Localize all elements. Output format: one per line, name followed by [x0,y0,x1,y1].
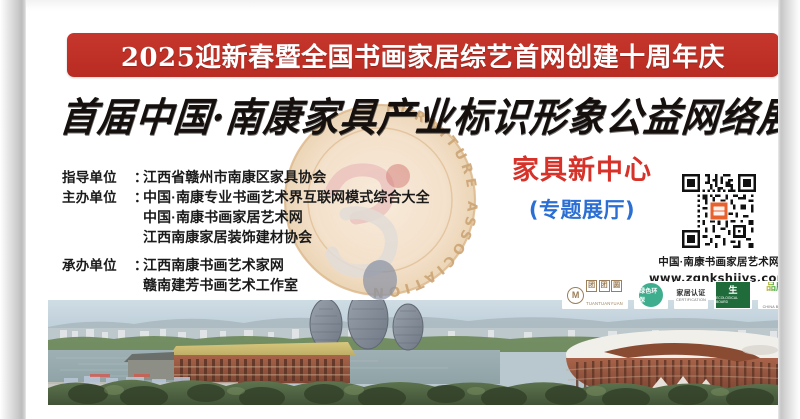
credit-colon: ： [134,256,143,275]
credit-value: 中国·南康书画家居艺术网 [143,208,303,227]
green-board-mark-icon: 生 ECOLOGICAL BOARD [716,282,750,308]
exhibition-poster: FURNITURE ASSOCIATION 2025迎新春暨全国书画家居综艺首网… [0,0,800,419]
credit-row: 赣南建芳书画艺术工作室 [62,276,482,295]
credit-label: 承办单位 [62,256,134,275]
eco-badge-icon: 绿色环保 [639,283,663,307]
sponsor-tagline: ECOLOGICAL BOARD [716,296,750,304]
poster-frame-right [778,0,800,419]
sponsor-logo-text: 家居认证 [676,288,706,298]
credit-row: 指导单位 ： 江西省赣州市南康区家具协会 [62,168,482,187]
city-skyline-photo [48,300,778,411]
sponsor-logo[interactable]: 品牌 CHINA BRAND [758,281,778,309]
sponsor-glyph: 圆 [611,280,622,292]
qr-site-name: 中国·南康书画家居艺术网 [644,254,778,269]
credit-colon: ： [134,168,143,187]
sponsor-logo-text: 品牌 [766,282,778,293]
banner-headline: 2025迎新春暨全国书画家居综艺首网创建十周年庆 [67,33,778,77]
banner-title-text: 2025迎新春暨全国书画家居综艺首网创建十周年庆 [121,37,725,74]
credit-value: 中国·南康专业书画艺术界互联网模式综合大全 [143,188,430,207]
sponsor-tagline: TUANTUANYUAN [586,301,623,306]
credit-label: 指导单位 [62,168,134,187]
credit-row: 承办单位 ： 江西南康书画艺术家网 [62,256,482,275]
certification-mark-icon: 家居认证 CERTIFICATION [676,288,706,302]
sponsor-logo[interactable]: 生 ECOLOGICAL BOARD [714,281,752,309]
credit-row: 中国·南康书画家居艺术网 [62,208,482,227]
sponsor-logo-strip: M 团 团 圆 TUANTUANYUAN 绿色环保 家居认证 [562,280,778,310]
credit-colon: ： [134,188,143,207]
sponsor-logo[interactable]: M 团 团 圆 TUANTUANYUAN [562,281,628,309]
sponsor-glyph: 团 [586,280,597,292]
sponsor-logo[interactable]: 绿色环保 [634,281,668,309]
sponsor-tagline: CERTIFICATION [676,298,706,302]
sponsor-logo[interactable]: 家居认证 CERTIFICATION [674,281,708,309]
sponsor-glyph: 团 [599,280,610,292]
credit-row: 江西南康家居装饰建材协会 [62,228,482,247]
credit-row: 主办单位 ： 中国·南康专业书画艺术界互联网模式综合大全 [62,188,482,207]
page-title: 首届中国·南康家具产业标识形象公益网络展 [60,86,778,142]
qr-center-logo-icon [710,202,729,221]
sponsor-logo-text: 生 [728,286,737,295]
qr-code-icon[interactable] [682,174,756,248]
sponsor-logo-wordmark: 团 团 圆 TUANTUANYUAN [586,280,623,310]
credit-value: 赣南建芳书画艺术工作室 [143,276,298,295]
organizer-credits: 指导单位 ： 江西省赣州市南康区家具协会 主办单位 ： 中国·南康专业书画艺术界… [62,168,482,296]
main-title-text: 首届中国·南康家具产业标识形象公益网络展 [57,85,778,143]
credit-label: 主办单位 [62,188,134,207]
tuantuanyuan-mark-icon: M [567,287,584,304]
sponsor-tagline: CHINA BRAND [763,305,778,309]
poster-sheet: FURNITURE ASSOCIATION 2025迎新春暨全国书画家居综艺首网… [22,8,778,411]
qr-code-block[interactable]: 中国·南康书画家居艺术网 www.zgnkshjjys.com [644,174,778,285]
sponsor-logo-text: 绿色环保 [639,286,663,304]
credit-value: 江西南康书画艺术家网 [143,256,284,275]
china-brand-mark-icon: 品牌 CHINA BRAND [758,277,778,313]
credit-value: 江西省赣州市南康区家具协会 [143,168,326,187]
credit-value: 江西南康家居装饰建材协会 [143,228,312,247]
